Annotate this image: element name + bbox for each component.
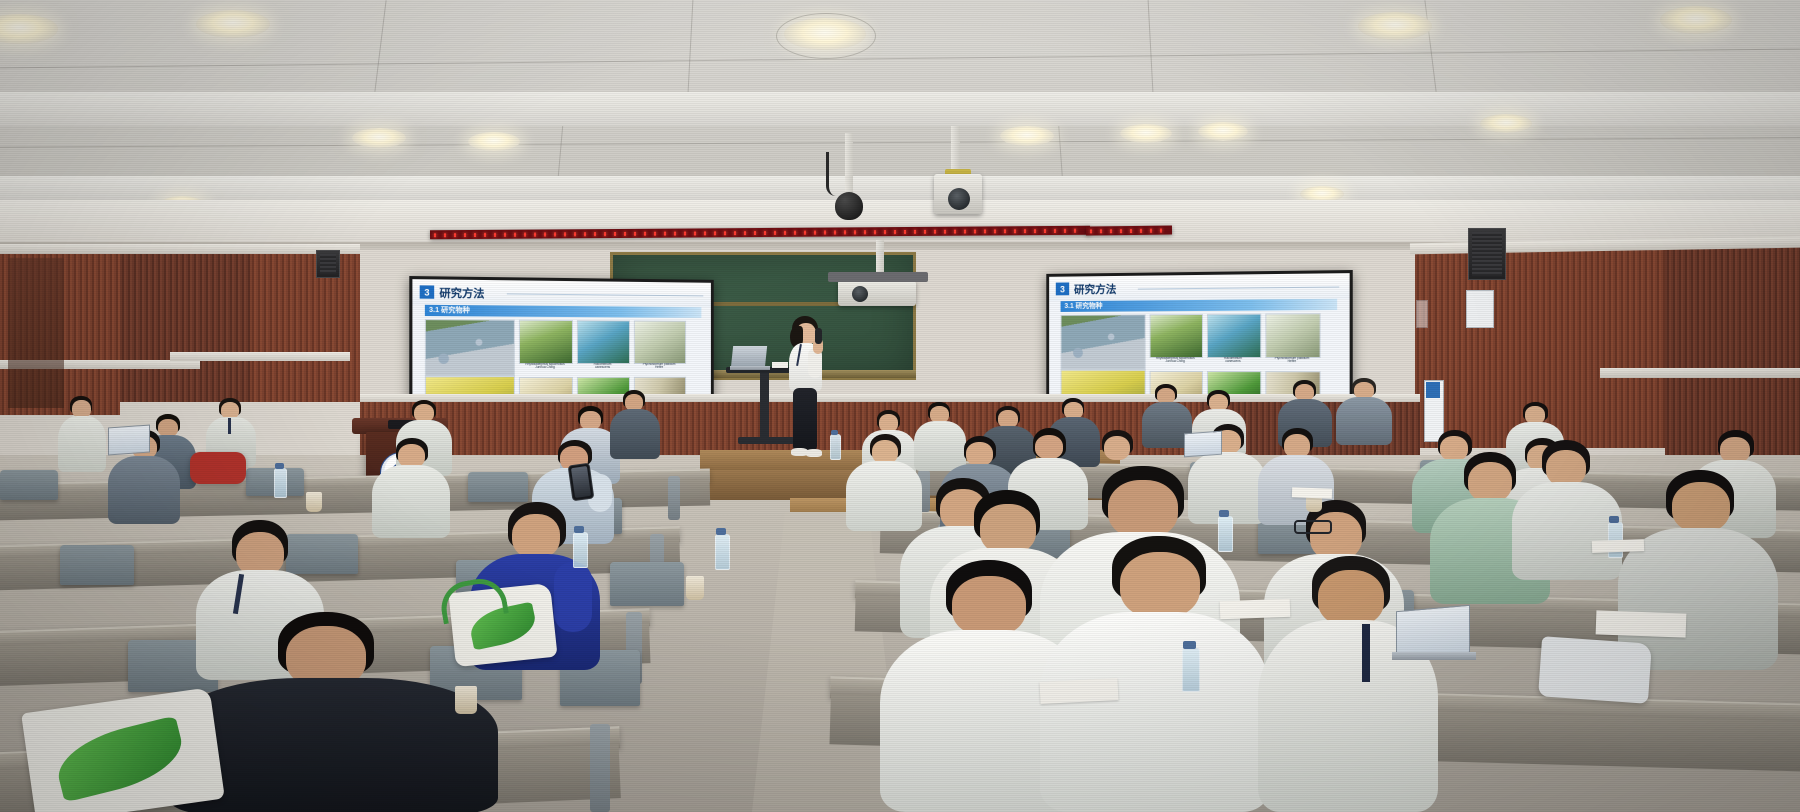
slide-subsection-label: 3.1 研究物种	[425, 305, 702, 318]
slide-image-habitat	[1061, 314, 1146, 370]
projector-lens-icon	[948, 188, 970, 210]
ceiling-downlight	[352, 128, 406, 148]
left-wall-wood-panel	[250, 252, 360, 402]
presenter-laptop-base	[730, 366, 770, 370]
handout-papers	[1596, 610, 1687, 637]
water-bottle	[715, 534, 730, 570]
bottle-cap	[716, 528, 726, 535]
dome-camera-icon	[835, 192, 863, 220]
attendee-foreground	[1618, 470, 1778, 670]
slide-subsection-bar: 3.1 研究物种	[1061, 299, 1338, 312]
slide-title: 研究方法	[439, 285, 484, 302]
left-wall-wood-panel	[120, 252, 250, 402]
attendee-laptop-screen[interactable]	[108, 425, 150, 456]
attendee-torso	[1512, 482, 1622, 580]
attendee-head	[512, 514, 560, 558]
attendee-head	[1318, 570, 1384, 626]
seat-back	[468, 472, 528, 502]
side-door-left[interactable]	[8, 258, 64, 408]
seat-back	[60, 545, 134, 585]
attendee-torso	[372, 465, 450, 538]
attendee-foreground	[1258, 556, 1438, 812]
seat-back	[0, 470, 58, 500]
attendee	[56, 396, 108, 474]
seat-divider	[668, 476, 680, 520]
slide-image-species-3	[1265, 313, 1320, 358]
ceiling-downlight	[1000, 126, 1054, 146]
attendee-laptop-screen[interactable]	[1184, 431, 1222, 458]
attendee-torso	[1040, 612, 1270, 812]
projector-lens-icon-2	[852, 286, 868, 302]
attendee-foreground	[1040, 536, 1270, 812]
backpack	[190, 452, 246, 484]
lectern-table-leg	[760, 373, 769, 439]
camera-cable	[826, 152, 845, 196]
right-wall-ledge	[1600, 368, 1800, 378]
bottle-cap	[574, 526, 584, 533]
slide-image-habitat	[425, 319, 515, 376]
water-bottle	[274, 468, 287, 498]
attendee-head	[1546, 450, 1586, 486]
ceiling-downlight	[1120, 124, 1172, 143]
projector-bracket	[828, 272, 928, 282]
ceiling-beam-2	[0, 176, 1800, 202]
slide-caption-1: Rhytidiadelphus squarrosus Junhua Ching	[1150, 357, 1201, 368]
glasses-icon	[1294, 520, 1332, 534]
attendee-head	[952, 576, 1026, 636]
handout-papers	[1220, 599, 1291, 619]
slide-caption-3: Ptychostomum pallidum Heffre	[1265, 357, 1318, 368]
camera-mount-pole	[845, 133, 853, 201]
slide-caption-1: Rhytidiadelphus squarrosus Junhua Ching	[519, 363, 571, 374]
lecture-hall-photo: 3 研究方法 3.1 研究物种 Rhytidiadelphus squarros…	[0, 0, 1800, 812]
attendee-torso	[610, 409, 660, 459]
presenter	[780, 316, 834, 466]
attendee-torso	[1336, 397, 1392, 445]
slide-image-species-2	[577, 320, 630, 364]
paper-cup	[455, 686, 477, 714]
tote-bag	[1538, 636, 1652, 704]
red-led-light-bar-right	[1086, 226, 1172, 236]
handout-papers	[1039, 678, 1118, 704]
attendee-head	[980, 504, 1036, 554]
downlight-ring	[776, 13, 876, 59]
right-wall-wood-panel	[1665, 246, 1800, 461]
slide-subsection-label: 3.1 研究物种	[1061, 299, 1338, 312]
attendee-lanyard	[1362, 624, 1370, 682]
paper-cup	[306, 492, 322, 512]
wall-notice-badge	[1426, 382, 1440, 398]
wall-speaker	[1468, 228, 1506, 280]
presenter-laptop-lid	[731, 346, 767, 368]
wall-soffit	[0, 200, 1800, 246]
attendee-arm	[554, 562, 592, 632]
ceiling-projector-2	[838, 280, 916, 306]
bottle-cap	[1183, 641, 1196, 649]
attendee-head	[966, 442, 993, 466]
slide-section-number: 3	[1056, 282, 1069, 295]
water-bottle	[573, 532, 588, 568]
handout-papers	[1592, 539, 1644, 553]
seat-divider	[590, 724, 610, 812]
ceiling-downlight	[1358, 12, 1432, 40]
attendee-head	[1672, 482, 1730, 532]
left-wall-cap	[0, 244, 360, 254]
seat-back	[610, 562, 684, 606]
presenter-trousers	[793, 388, 817, 452]
wall-sign	[1466, 290, 1494, 328]
bottle-cap	[1219, 510, 1229, 517]
ceiling-downlight	[196, 10, 270, 38]
slide-image-species-3	[634, 320, 686, 364]
slide-caption-3: Ptychostomum pallidum Heffre	[634, 363, 684, 374]
slide-caption-2: Racomitrium canescens	[1207, 357, 1259, 368]
bottle-cap	[1609, 516, 1619, 523]
projector-mount-pole	[951, 126, 960, 174]
wall-notice-left	[1416, 300, 1428, 328]
handout-papers	[1292, 487, 1332, 498]
ceiling-downlight	[1198, 122, 1248, 141]
attendee-head	[1035, 435, 1063, 459]
attendee-torso	[58, 416, 106, 472]
attendee	[1336, 378, 1392, 444]
water-bottle	[1218, 516, 1233, 552]
slide-subsection-bar: 3.1 研究物种	[425, 305, 702, 318]
ceiling-downlight	[468, 132, 520, 151]
attendee-head	[1468, 462, 1512, 502]
microphone-icon	[815, 328, 822, 344]
attendee-head	[1108, 480, 1178, 538]
paper-cup	[686, 576, 704, 600]
slide-image-species-1	[519, 320, 573, 364]
slide-section-number: 3	[420, 285, 435, 298]
wall-speaker-left	[316, 250, 340, 278]
slide-image-species-1	[1150, 314, 1203, 358]
stage-wall-cap	[360, 394, 1420, 402]
slide-image-species-2	[1207, 314, 1261, 358]
attendee-foreground	[1512, 440, 1622, 580]
presenter-shoe	[806, 449, 822, 457]
slide-title: 研究方法	[1074, 281, 1116, 297]
attendee-head	[1120, 552, 1200, 618]
attendee-lanyard	[228, 418, 231, 434]
attendee	[372, 438, 450, 538]
slide-caption-2: Racomitrium canescens	[577, 363, 628, 374]
attendee-laptop-keyboard[interactable]	[1392, 652, 1476, 660]
left-wall-ledge	[170, 352, 350, 361]
attendee-torso	[108, 456, 180, 524]
water-bottle	[1182, 648, 1200, 692]
attendee	[610, 390, 660, 460]
bottle-cap	[275, 463, 284, 469]
ceiling-downlight	[1480, 114, 1532, 133]
ceiling-downlight	[1660, 6, 1732, 34]
